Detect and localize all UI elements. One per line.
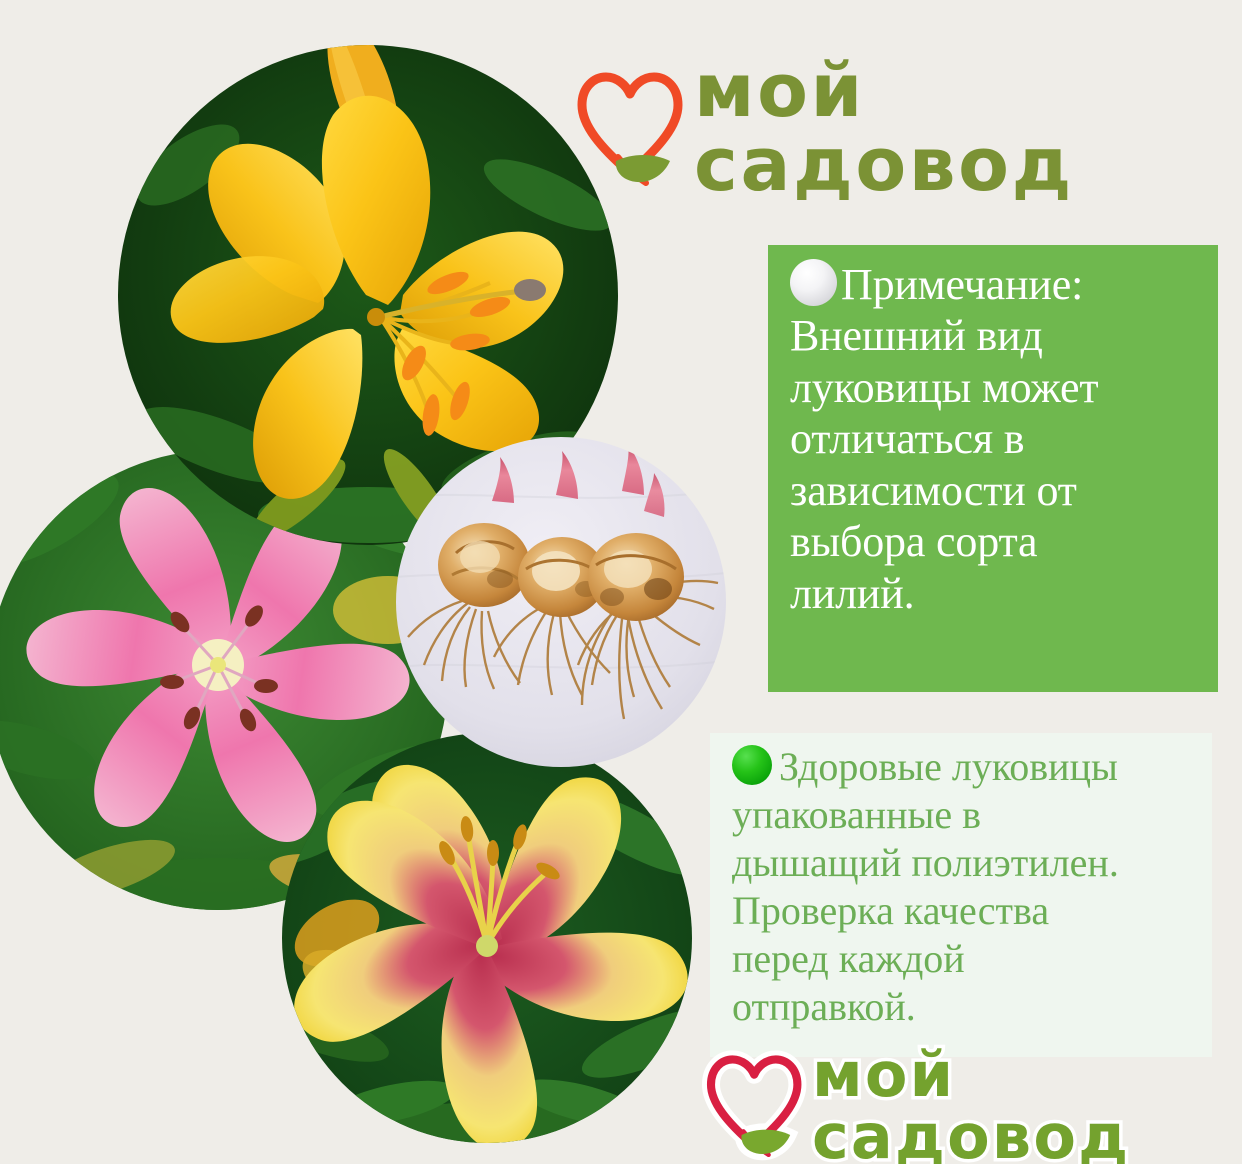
healthy-line-1: Здоровые луковицы <box>779 744 1118 789</box>
photo-bicolor-lily <box>282 733 692 1143</box>
healthy-line-6: отправкой. <box>732 984 916 1029</box>
white-sphere-bullet-icon <box>790 259 837 306</box>
note-text-block: Примечание: Внешний вид луковицы может о… <box>768 245 1218 619</box>
heart-outline-icon-bottom <box>700 1045 812 1164</box>
heart-outline-icon <box>572 61 692 196</box>
healthy-bulbs-callout-box: Здоровые луковицы упакованные в дышащий … <box>710 733 1212 1057</box>
photo-lily-bulbs <box>396 437 726 767</box>
heart-leaf-mark-top <box>572 61 692 191</box>
poster-canvas: Примечание: Внешний вид луковицы может о… <box>0 0 1242 1164</box>
brand-logo-top: мой садовод <box>572 58 1222 198</box>
brand-logo-top-text: мой садовод <box>694 54 1222 202</box>
note-line-2: Внешний вид <box>790 311 1043 360</box>
note-line-3: луковицы может <box>790 363 1098 412</box>
note-line-7: лилий. <box>790 569 915 618</box>
note-line-1: Примечание: <box>841 260 1083 309</box>
note-line-4: отличаться в <box>790 414 1024 463</box>
brand-logo-bottom: мой садовод <box>700 1047 1220 1164</box>
healthy-line-2: упакованные в <box>732 792 981 837</box>
healthy-line-3: дышащий полиэтилен. <box>732 840 1119 885</box>
note-callout-box: Примечание: Внешний вид луковицы может о… <box>768 245 1218 692</box>
note-line-6: выбора сорта <box>790 517 1037 566</box>
note-line-5: зависимости от <box>790 466 1077 515</box>
brand-logo-bottom-text: мой садовод <box>812 1044 1220 1164</box>
healthy-line-4: Проверка качества <box>732 888 1049 933</box>
heart-leaf-mark-bottom <box>700 1045 812 1162</box>
lily-bulbs-illustration <box>396 437 726 767</box>
green-sphere-bullet-icon <box>732 745 772 785</box>
bicolor-lily-illustration <box>282 733 692 1143</box>
healthy-line-5: перед каждой <box>732 936 965 981</box>
healthy-text-block: Здоровые луковицы упакованные в дышащий … <box>710 733 1212 1031</box>
